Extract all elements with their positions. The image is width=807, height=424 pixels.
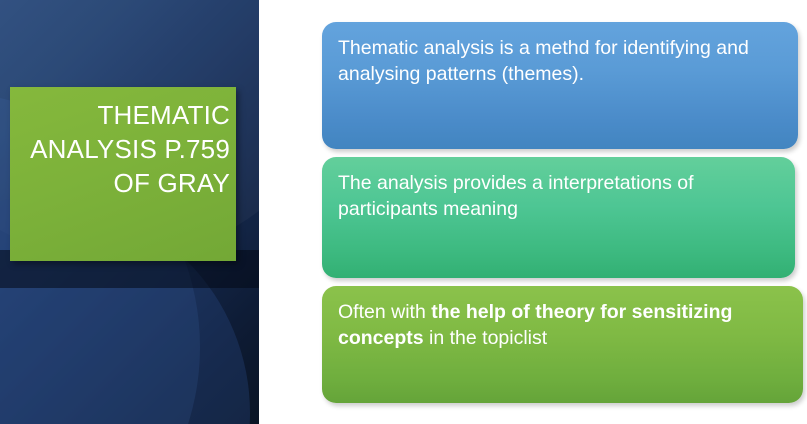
callout-box-3: Often with the help of theory for sensit… bbox=[322, 286, 803, 403]
slide-canvas: THEMATIC ANALYSIS P.759 OF GRAY Thematic… bbox=[0, 0, 807, 424]
callout-3-trailing-text: in the topiclist bbox=[424, 327, 548, 349]
callout-3-lead-text: Often with bbox=[338, 301, 431, 323]
page-title: THEMATIC ANALYSIS P.759 OF GRAY bbox=[20, 99, 230, 200]
callout-box-1: Thematic analysis is a methd for identif… bbox=[322, 22, 798, 149]
callout-3-text-group: Often with the help of theory for sensit… bbox=[338, 300, 787, 352]
callout-2-text: The analysis provides a interpretations … bbox=[338, 171, 779, 223]
callout-box-2: The analysis provides a interpretations … bbox=[322, 157, 795, 278]
slide-title-block: THEMATIC ANALYSIS P.759 OF GRAY bbox=[10, 87, 236, 261]
callout-1-text: Thematic analysis is a methd for identif… bbox=[338, 36, 782, 88]
